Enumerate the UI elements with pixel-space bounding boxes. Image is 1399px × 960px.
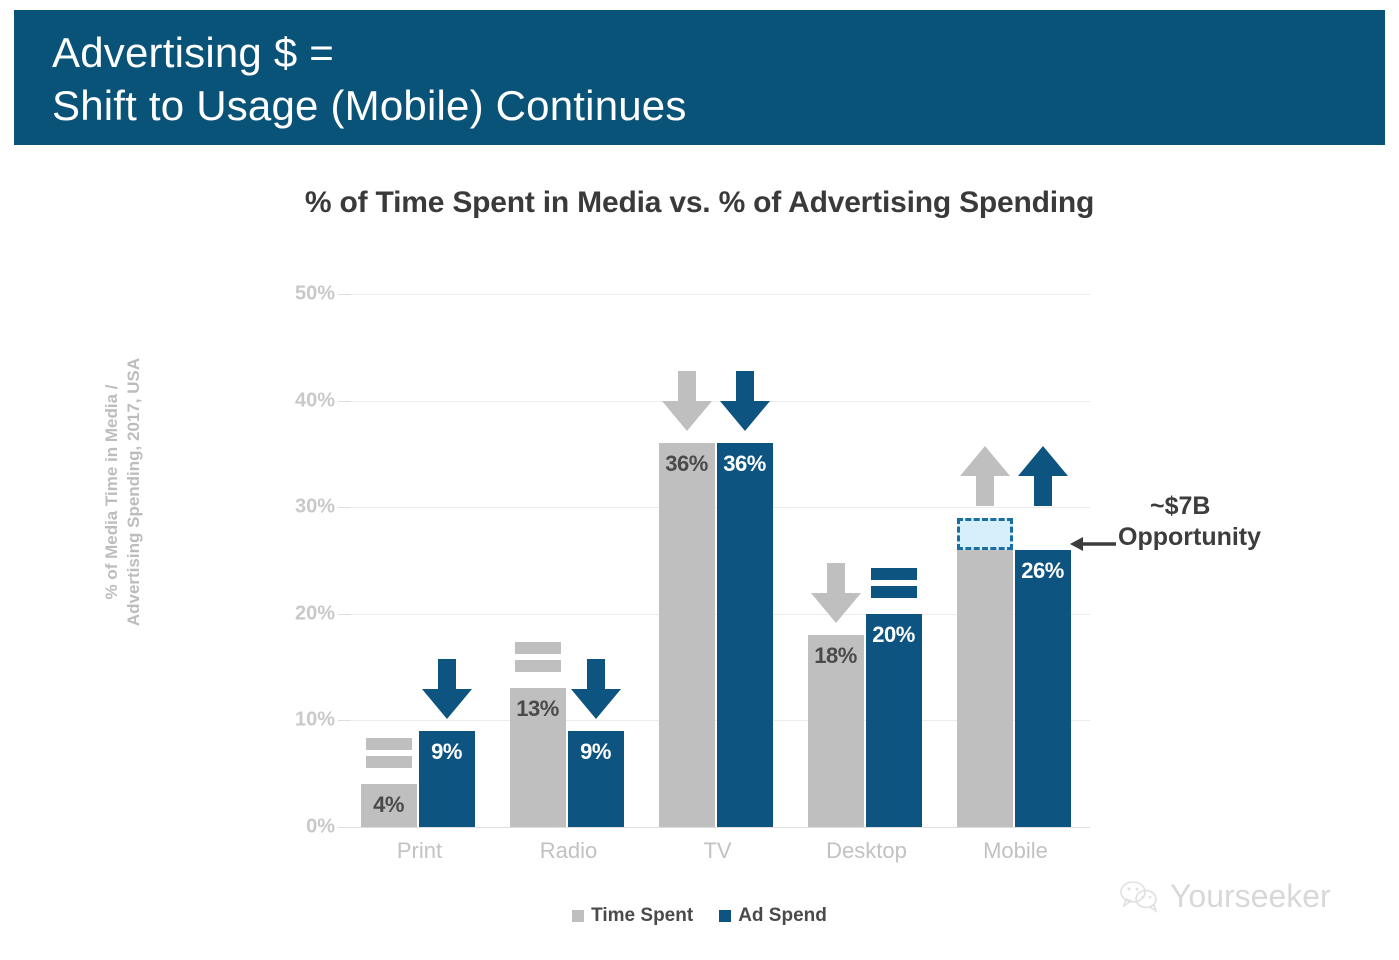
bar-value-label: 4% [361,792,417,818]
y-tick-label-40%: 40% [275,389,335,412]
x-axis-label-radio: Radio [494,838,643,864]
equals-icon [513,638,563,678]
bar-desktop-time-spent[interactable]: 18% [808,635,864,827]
bar-tv-ad-spend[interactable]: 36% [717,443,773,827]
bar-radio-ad-spend[interactable]: 9% [568,731,624,827]
bar-value-label: 26% [1015,558,1071,584]
x-axis-label-mobile: Mobile [941,838,1090,864]
x-axis-label-tv: TV [643,838,792,864]
y-axis-title-line-2: Advertising Spending, 2017, USA [123,322,145,662]
left-arrow-icon [1070,534,1116,554]
legend-item-ad-spend[interactable]: Ad Spend [719,905,827,927]
y-tick-label-10%: 10% [275,709,335,732]
y-axis-ticks: 0%10%20%30%40%50% [275,0,335,960]
bar-value-label: 13% [510,696,566,722]
y-tick-label-20%: 20% [275,602,335,625]
equals-icon [364,734,414,774]
opportunity-box [957,518,1013,550]
bar-radio-time-spent[interactable]: 13% [510,688,566,827]
bar-value-label: 18% [808,643,864,669]
gridline-0% [345,827,1090,828]
bar-tv-time-spent[interactable]: 36% [659,443,715,827]
wechat-icon [1120,880,1160,914]
watermark-text: Yourseeker [1170,878,1331,915]
opportunity-annotation: ~$7B Opportunity [1118,492,1388,552]
bar-print-ad-spend[interactable]: 9% [419,731,475,827]
arrow-down-icon [420,659,474,721]
bar-value-label: 36% [717,451,773,477]
y-axis-title-line-1: % of Media Time in Media / [101,322,123,662]
bar-value-label: 9% [568,739,624,765]
tick-mark-0% [338,827,350,828]
bar-value-label: 9% [419,739,475,765]
x-axis-labels: PrintRadioTVDesktopMobile [345,838,1090,872]
annotation-label: Opportunity [1118,523,1388,552]
arrow-up-icon [958,446,1012,508]
bar-chart: % of Media Time in Media / Advertising S… [0,0,1399,960]
arrow-down-icon [809,563,863,625]
legend-swatch [719,910,731,922]
watermark: Yourseeker [1120,878,1331,915]
arrow-down-icon [660,371,714,433]
equals-icon [869,564,919,604]
bar-desktop-ad-spend[interactable]: 20% [866,614,922,827]
bar-print-time-spent[interactable]: 4% [361,784,417,827]
arrow-up-icon [1016,446,1070,508]
bar-value-label: 36% [659,451,715,477]
y-axis-title: % of Media Time in Media / Advertising S… [101,322,145,662]
bar-mobile-time-spent[interactable]: 29% [957,518,1013,827]
plot-area: 4%9%13%9%36%36%18%20%29%26% [345,294,1090,827]
bar-group-print: 4%9% [361,294,475,827]
bar-group-radio: 13%9% [510,294,624,827]
legend-swatch [572,910,584,922]
x-axis-label-print: Print [345,838,494,864]
bar-group-tv: 36%36% [659,294,773,827]
legend-label: Ad Spend [738,905,827,927]
annotation-amount: ~$7B [1118,492,1388,521]
bar-group-desktop: 18%20% [808,294,922,827]
y-tick-label-0%: 0% [275,816,335,839]
bar-group-mobile: 29%26% [957,294,1071,827]
legend-label: Time Spent [591,905,693,927]
bar-mobile-ad-spend[interactable]: 26% [1015,550,1071,827]
y-tick-label-50%: 50% [275,283,335,306]
arrow-down-icon [718,371,772,433]
arrow-down-icon [569,659,623,721]
legend-item-time-spent[interactable]: Time Spent [572,905,693,927]
x-axis-label-desktop: Desktop [792,838,941,864]
y-tick-label-30%: 30% [275,496,335,519]
bar-value-label: 20% [866,622,922,648]
